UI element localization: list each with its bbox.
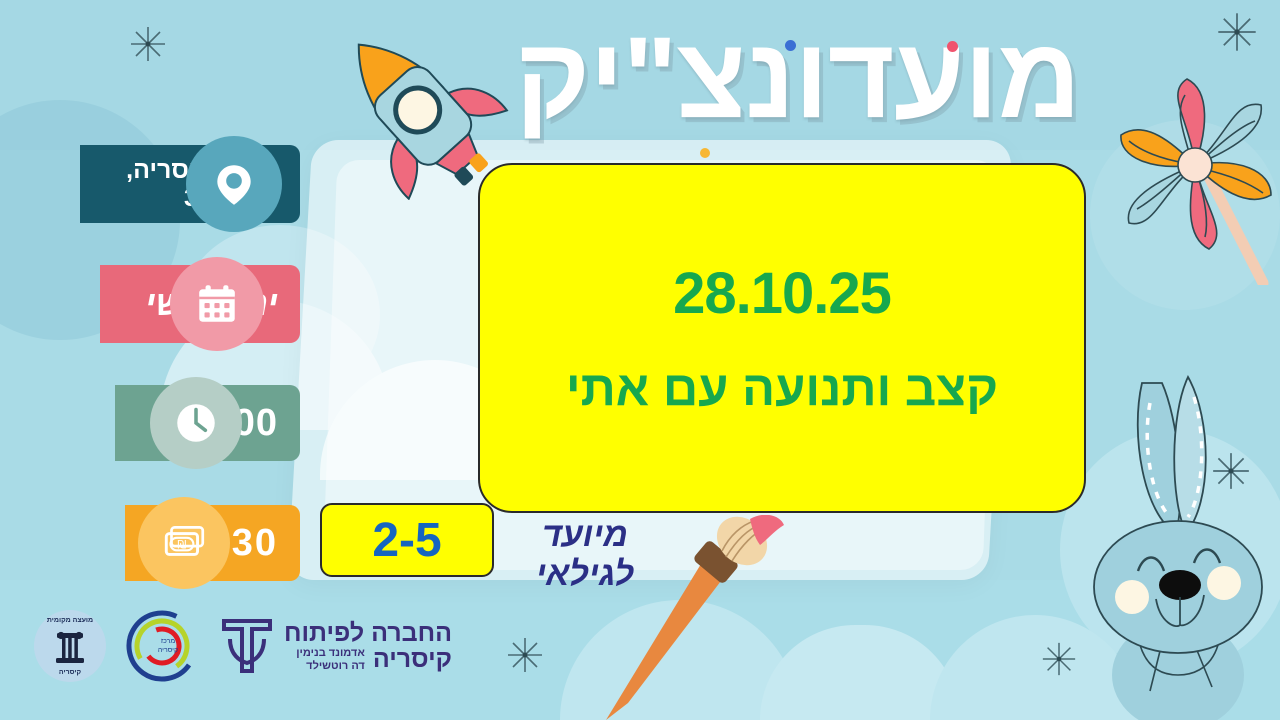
council-logo-line2: קיסריה — [34, 669, 106, 676]
title-dot-amber — [700, 148, 710, 158]
time-icon-circle — [150, 377, 242, 469]
location-icon-circle — [186, 136, 282, 232]
map-pin-icon — [209, 159, 259, 209]
clock-icon — [171, 398, 221, 448]
age-range-text: 2-5 — [372, 513, 441, 568]
center-logo-line2: קיסריה — [158, 647, 178, 654]
sparkle-icon — [128, 24, 168, 64]
event-activity: קצב ותנועה עם אתי — [566, 361, 998, 417]
rabbit-illustration — [1070, 375, 1280, 720]
info-badge-location: מרכז קיסריה, שכונה 3 — [0, 145, 300, 223]
svg-text:₪: ₪ — [177, 538, 186, 552]
poster-canvas: מועדונצ"יק מרכז קיסריה, שכונה 3 ימי שישי — [0, 0, 1280, 720]
development-logo-line1: החברה לפיתוח — [284, 620, 452, 646]
logo-caesarea-center: מרכז קיסריה — [124, 608, 200, 684]
logo-caesarea-development: החברה לפיתוח קיסריה אדמונד בנימין דה רוט… — [218, 615, 452, 677]
logo-local-council: מועצה מקומית קיסריה — [34, 610, 106, 682]
day-icon-circle — [170, 257, 264, 351]
age-range-badge: 2-5 — [320, 503, 494, 577]
age-label: מיועד לגילאי — [490, 516, 680, 594]
column-icon — [53, 627, 87, 665]
rothschild-mark-icon — [218, 615, 276, 677]
banknote-icon: ₪ — [159, 518, 209, 568]
title-dot-pink — [947, 41, 958, 52]
council-logo-line1: מועצה מקומית — [34, 617, 106, 624]
info-badge-day: ימי שישי — [0, 265, 300, 343]
event-details-box: 28.10.25 קצב ותנועה עם אתי — [478, 163, 1086, 513]
page-title: מועדונצ"יק — [515, 18, 1080, 139]
sparkle-icon — [505, 635, 545, 675]
info-badge-time: 17:00 — [0, 385, 300, 461]
price-icon-circle: ₪ — [138, 497, 230, 589]
pinwheel-illustration — [1075, 25, 1280, 290]
center-logo-line1: מרכז — [161, 638, 175, 645]
event-date: 28.10.25 — [673, 260, 891, 327]
calendar-icon — [192, 279, 242, 329]
development-logo-sub: אדמונד בנימין דה רוטשילד — [296, 647, 365, 672]
info-badge-price: 30 ₪ ₪ — [0, 505, 300, 581]
development-logo-text: החברה לפיתוח קיסריה אדמונד בנימין דה רוט… — [284, 620, 452, 673]
logo-strip: מועצה מקומית קיסריה מרכז קיסריה — [34, 608, 452, 684]
title-dot-blue — [785, 40, 796, 51]
development-logo-line2: קיסריה — [373, 646, 452, 672]
